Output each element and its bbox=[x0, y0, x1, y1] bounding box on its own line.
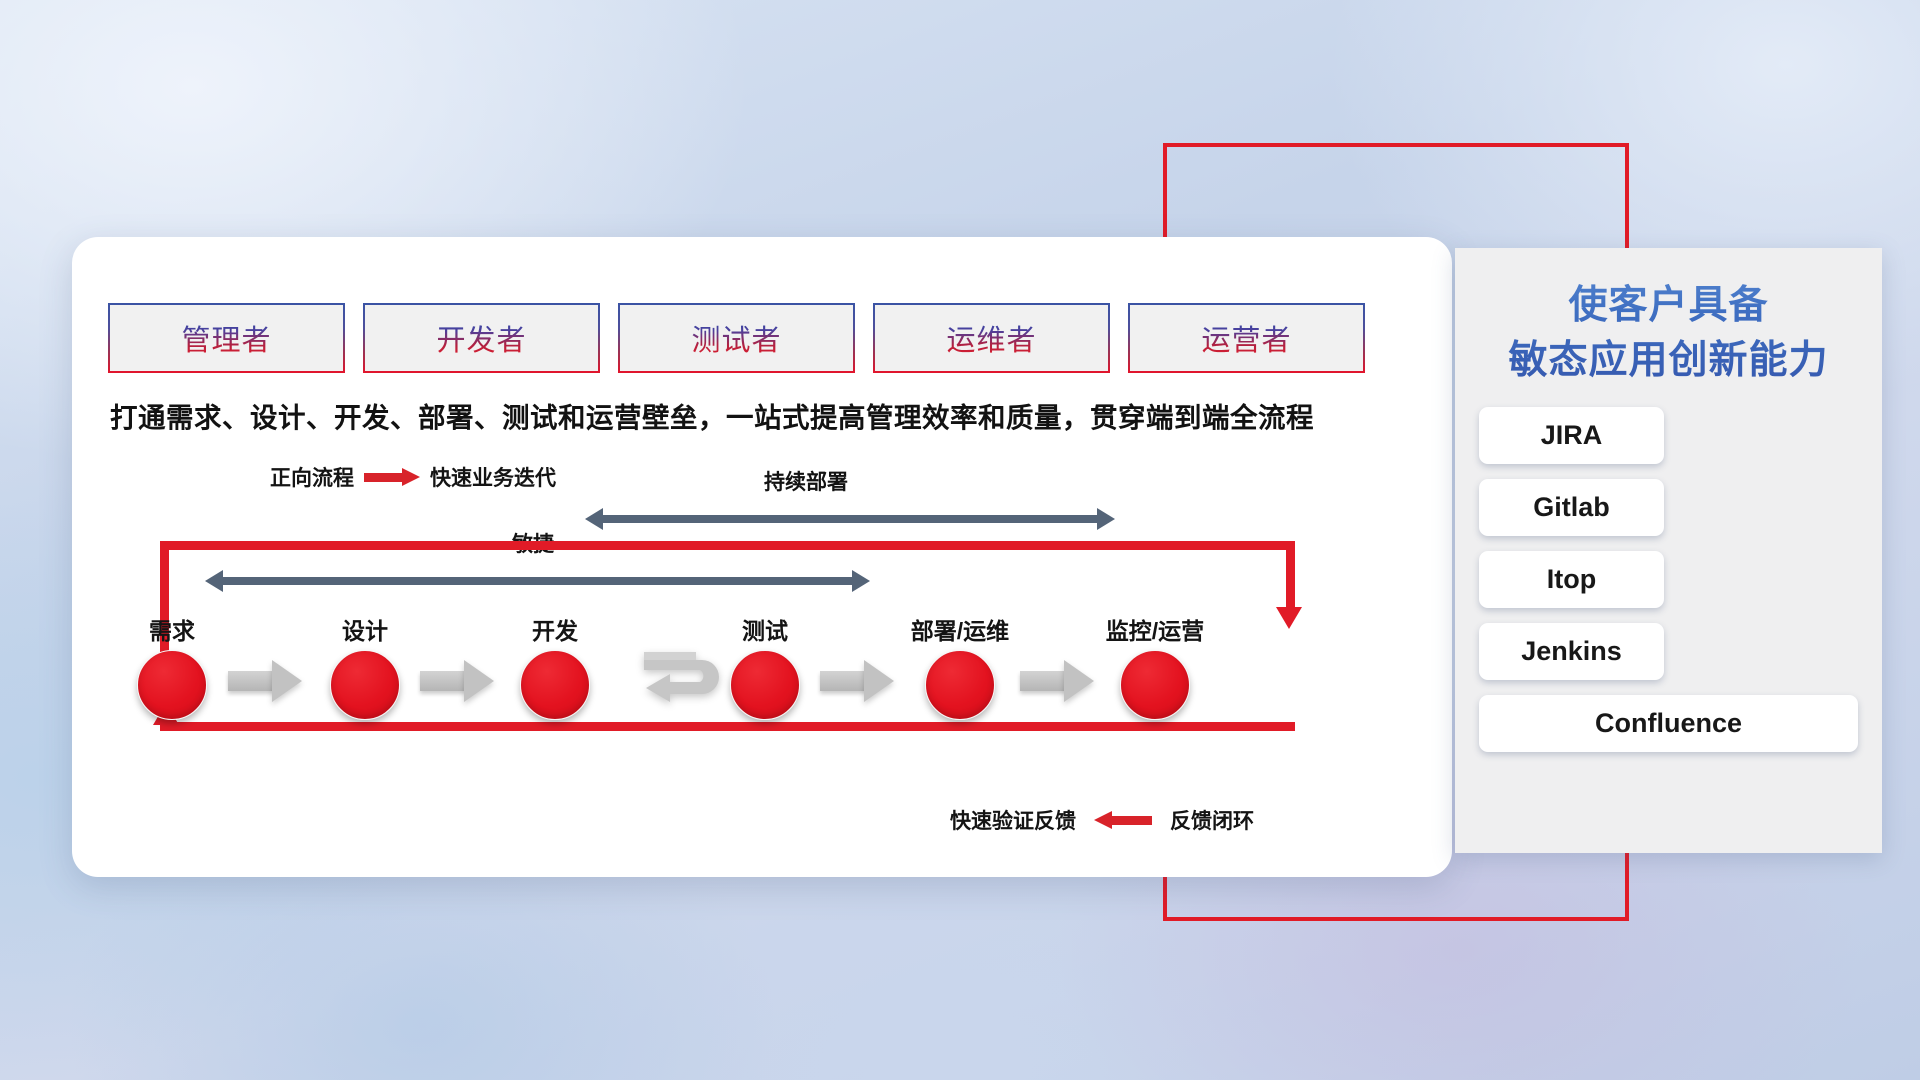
stage-dot-icon bbox=[925, 650, 995, 720]
role-box-manager[interactable]: 管理者 bbox=[110, 305, 343, 371]
value-panel: 使客户具备 敏态应用创新能力 JIRA Gitlab Itop Jenkins … bbox=[1455, 248, 1882, 853]
pipeline-arrow-icon bbox=[820, 660, 894, 700]
tool-confluence[interactable]: Confluence bbox=[1479, 695, 1858, 752]
stage-label: 测试 bbox=[705, 612, 825, 646]
stage-label: 监控/运营 bbox=[1095, 612, 1215, 646]
role-box-ops[interactable]: 运维者 bbox=[875, 305, 1108, 371]
role-label: 管理者 bbox=[181, 317, 271, 359]
stage-label: 开发 bbox=[495, 612, 615, 646]
stage-development[interactable]: 开发 bbox=[495, 612, 615, 720]
red-left-arrow-icon bbox=[1094, 811, 1152, 829]
role-label: 运维者 bbox=[946, 317, 1036, 359]
feedback-loop-label: 反馈闭环 bbox=[1170, 805, 1254, 835]
stage-deploy-ops[interactable]: 部署/运维 bbox=[900, 612, 1020, 720]
stage-label: 设计 bbox=[305, 612, 425, 646]
headline-text: 打通需求、设计、开发、部署、测试和运营壁垒，一站式提高管理效率和质量，贯穿端到端… bbox=[110, 395, 1400, 435]
role-label: 运营者 bbox=[1201, 317, 1291, 359]
stage-testing[interactable]: 测试 bbox=[705, 612, 825, 720]
stage-dot-icon bbox=[730, 650, 800, 720]
stage-label: 需求 bbox=[112, 612, 232, 646]
forward-flow-label: 正向流程 bbox=[270, 462, 354, 492]
forward-flow-result: 快速业务迭代 bbox=[430, 462, 556, 492]
stage-label: 部署/运维 bbox=[900, 612, 1020, 646]
pipeline-arrow-icon bbox=[1020, 660, 1094, 700]
panel-title: 使客户具备 敏态应用创新能力 bbox=[1455, 248, 1882, 389]
tool-jira[interactable]: JIRA bbox=[1479, 407, 1664, 464]
panel-title-line1: 使客户具备 bbox=[1455, 278, 1882, 333]
red-right-arrow-icon bbox=[364, 468, 420, 486]
pipeline-arrow-icon bbox=[420, 660, 494, 700]
tool-jenkins[interactable]: Jenkins bbox=[1479, 623, 1664, 680]
tool-list: JIRA Gitlab Itop Jenkins Confluence bbox=[1455, 389, 1882, 752]
stage-dot-icon bbox=[137, 650, 207, 720]
role-box-developer[interactable]: 开发者 bbox=[365, 305, 598, 371]
role-box-row: 管理者 开发者 测试者 运维者 运营者 bbox=[110, 305, 1363, 371]
pipeline: 需求 设计 开发 测试 部署/运维 监控/运营 bbox=[120, 612, 1320, 732]
stage-dot-icon bbox=[520, 650, 590, 720]
stage-dot-icon bbox=[1120, 650, 1190, 720]
role-label: 开发者 bbox=[436, 317, 526, 359]
stage-requirement[interactable]: 需求 bbox=[112, 612, 232, 720]
role-box-operator[interactable]: 运营者 bbox=[1130, 305, 1363, 371]
stage-design[interactable]: 设计 bbox=[305, 612, 425, 720]
tool-gitlab[interactable]: Gitlab bbox=[1479, 479, 1664, 536]
role-box-tester[interactable]: 测试者 bbox=[620, 305, 853, 371]
stage-monitor-operate[interactable]: 监控/运营 bbox=[1095, 612, 1215, 720]
continuous-deployment-label: 持续部署 bbox=[764, 466, 848, 496]
role-label: 测试者 bbox=[691, 317, 781, 359]
continuous-deployment-double-arrow-icon bbox=[585, 508, 1115, 530]
stage-dot-icon bbox=[330, 650, 400, 720]
feedback-caption: 快速验证反馈 反馈闭环 bbox=[950, 805, 1254, 835]
panel-title-line2: 敏态应用创新能力 bbox=[1455, 333, 1882, 388]
tool-itop[interactable]: Itop bbox=[1479, 551, 1664, 608]
forward-flow-caption: 正向流程 快速业务迭代 bbox=[270, 462, 556, 492]
pipeline-arrow-icon bbox=[228, 660, 302, 700]
feedback-result-label: 快速验证反馈 bbox=[950, 805, 1076, 835]
